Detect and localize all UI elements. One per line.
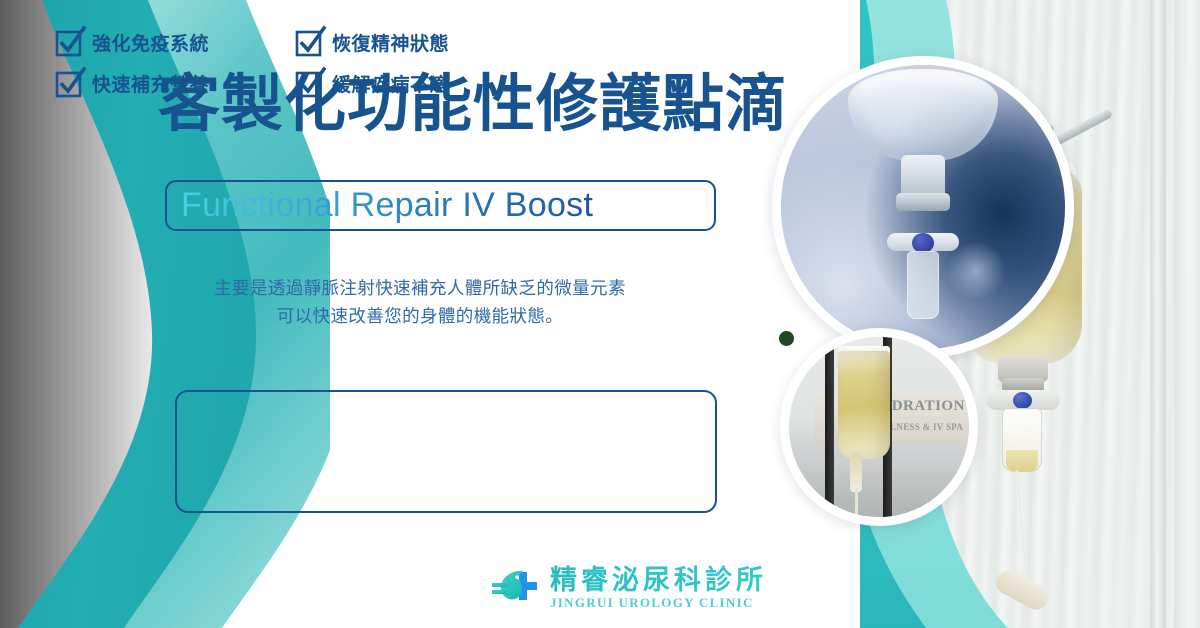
description-line-2: 可以快速改善您的身體的機能狀態。 [140, 302, 700, 330]
checkbox-checked-icon [296, 30, 321, 55]
clinic-logo: 精睿泌尿科診所 JINGRUI UROLOGY CLINIC [489, 562, 767, 614]
photo-inset-iv-bottle [772, 56, 1074, 358]
door-frame-left [825, 337, 834, 517]
banner-subtitle: Functional Repair IV Boost [181, 186, 593, 225]
feature-item: 快速補充營養 [56, 70, 296, 97]
iv-bottle-roller-clamp [912, 233, 934, 253]
banner-description: 主要是透過靜脈注射快速補充人體所缺乏的微量元素 可以快速改善您的身體的機能狀態。 [140, 274, 700, 331]
feature-label: 緩解疾病不適 [332, 70, 449, 97]
iv-bag-line [855, 488, 858, 526]
features-list: 強化免疫系統 恢復精神狀態 快速補充營養 [56, 22, 536, 104]
clinic-name-en: JINGRUI UROLOGY CLINIC [550, 596, 767, 611]
floor [789, 470, 969, 517]
photo-lens-glow [946, 241, 1006, 301]
iv-bottle-ring [896, 193, 950, 211]
feature-label: 強化免疫系統 [92, 29, 209, 56]
feature-item: 緩解疾病不適 [296, 70, 536, 97]
banner-content: 客製化功能性修護點滴 Functional Repair IV Boost 主要… [0, 0, 780, 628]
clinic-name-cn: 精睿泌尿科診所 [550, 565, 767, 595]
checkbox-checked-icon [56, 71, 81, 96]
clinic-promo-banner: HYDRATION WELLNESS & IV SPA 客製化功能性修護點滴 F… [0, 0, 1200, 628]
photo-inset-iv-bag-clinic: HYDRATION WELLNESS & IV SPA [780, 328, 978, 526]
description-line-1: 主要是透過靜脈注射快速補充人體所缺乏的微量元素 [140, 274, 700, 302]
accent-dot-green [779, 331, 794, 346]
logo-text-group: 精睿泌尿科診所 JINGRUI UROLOGY CLINIC [550, 565, 767, 611]
bird-cross-logo-icon [489, 562, 541, 614]
feature-label: 恢復精神狀態 [332, 29, 449, 56]
feature-label: 快速補充營養 [92, 70, 209, 97]
features-container [175, 390, 717, 513]
feature-item: 恢復精神狀態 [296, 29, 536, 56]
iv-bottle-drip-chamber [907, 251, 939, 319]
feature-item: 強化免疫系統 [56, 29, 296, 56]
subtitle-container: Functional Repair IV Boost [165, 180, 716, 231]
iv-bag [838, 351, 890, 459]
iv-bag-drip-tube [850, 452, 862, 492]
checkbox-checked-icon [56, 30, 81, 55]
checkbox-checked-icon [296, 71, 321, 96]
